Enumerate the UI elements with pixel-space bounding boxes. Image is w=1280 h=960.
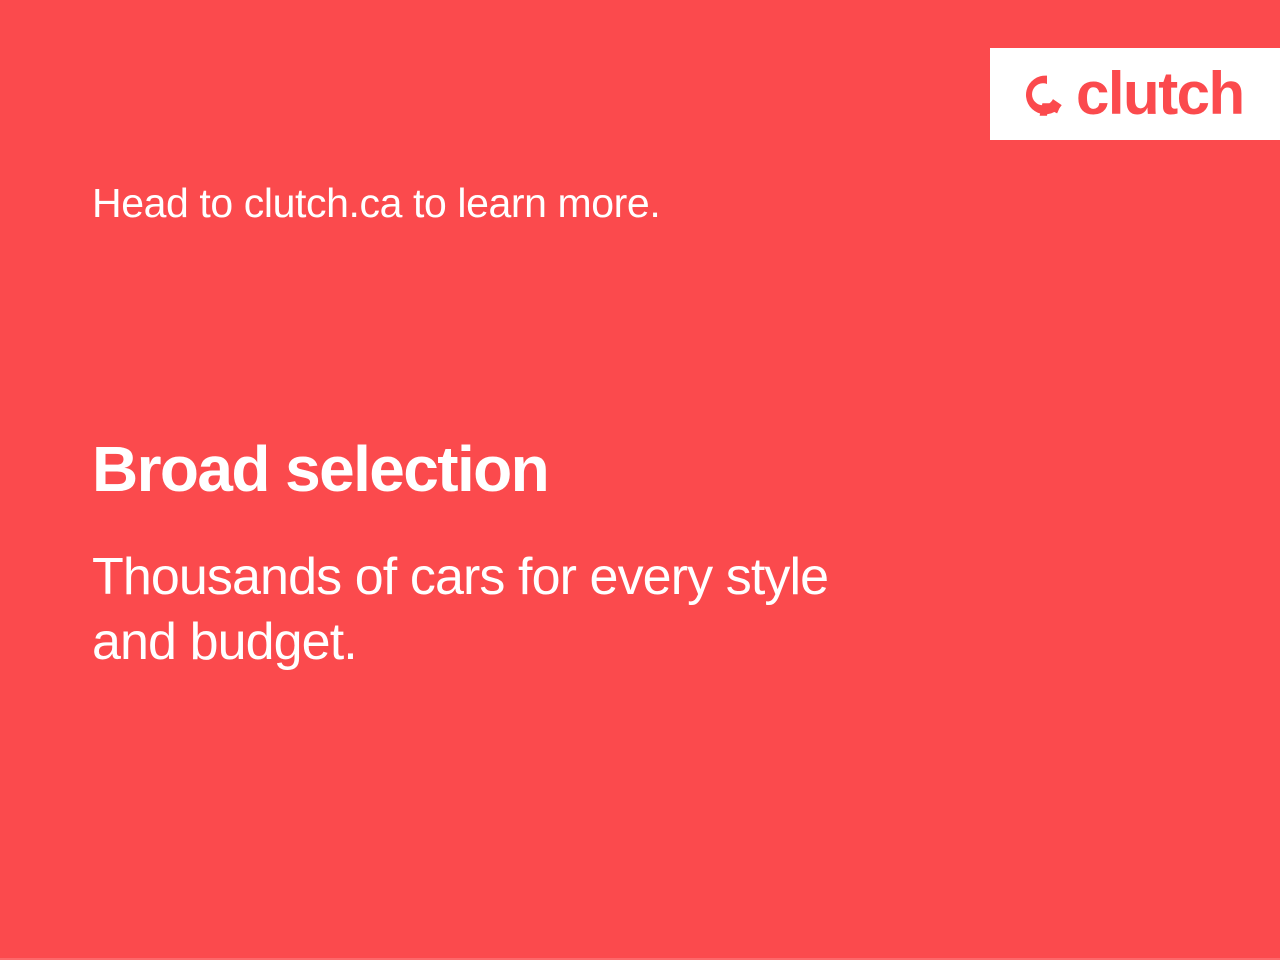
subheadline-line-2: and budget. [92,610,1052,675]
subheadline: Thousands of cars for every style and bu… [92,545,1052,675]
subheadline-line-1: Thousands of cars for every style [92,545,1052,610]
clutch-steering-wheel-icon [1024,72,1070,118]
brand-wordmark: clutch [1076,69,1244,118]
brand-logo-plate: clutch [990,48,1280,140]
eyebrow-text: Head to clutch.ca to learn more. [92,182,660,225]
clutch-logo-lockup: clutch [1024,69,1244,118]
page-title: Broad selection [92,437,548,501]
promo-slide: clutch Head to clutch.ca to learn more. … [0,0,1280,960]
